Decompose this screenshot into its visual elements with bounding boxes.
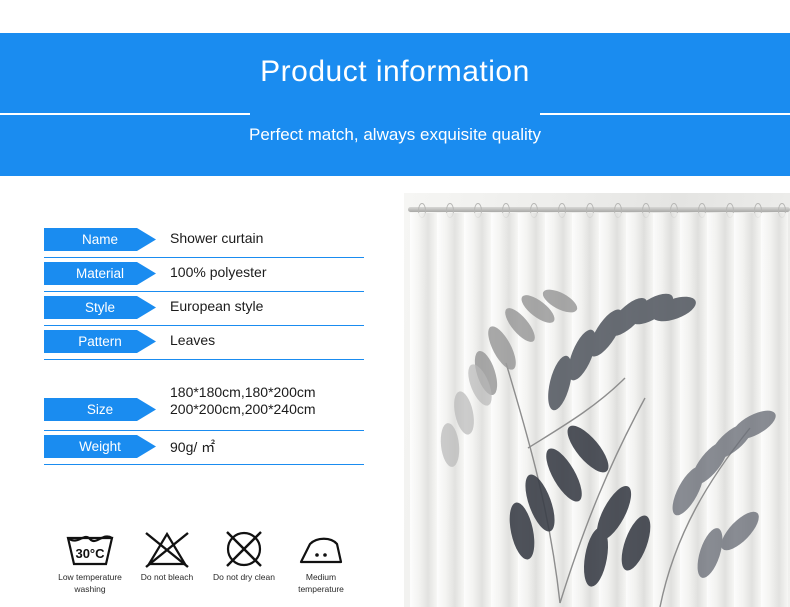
spec-row: Pattern Leaves — [44, 330, 374, 364]
spec-label-material: Material — [44, 262, 156, 285]
care-caption-line1: Medium — [279, 572, 363, 582]
spec-label-name: Name — [44, 228, 156, 251]
spec-divider — [44, 464, 364, 465]
spec-row: Name Shower curtain — [44, 228, 374, 262]
do-not-bleach-icon — [125, 524, 209, 570]
do-not-dry-clean-icon — [202, 524, 286, 570]
curtain-fabric — [410, 213, 788, 607]
spec-value-weight: 90g/ ㎡ — [170, 437, 215, 457]
care-caption-line1: Do not bleach — [125, 572, 209, 582]
care-caption-line1: Low temperature — [48, 572, 132, 582]
spec-row: Material 100% polyester — [44, 262, 374, 296]
page-subtitle: Perfect match, always exquisite quality — [0, 125, 790, 145]
spec-value-size-line1: 180*180cm,180*200cm — [170, 384, 316, 401]
spec-value-material: 100% polyester — [170, 264, 267, 280]
care-caption-line2: temperature — [279, 584, 363, 594]
spec-row: Style European style — [44, 296, 374, 330]
spec-divider — [44, 430, 364, 431]
spec-divider — [44, 257, 364, 258]
iron-medium-icon — [279, 524, 363, 570]
page-title: Product information — [0, 55, 790, 89]
spec-value-size-line2: 200*200cm,200*240cm — [170, 401, 316, 418]
spec-table: Name Shower curtain Material 100% polyes… — [44, 228, 374, 469]
spec-value-name: Shower curtain — [170, 230, 263, 246]
spec-divider — [44, 291, 364, 292]
product-photo — [404, 193, 790, 607]
care-item: Do not bleach — [125, 524, 209, 584]
spec-divider — [44, 325, 364, 326]
care-caption-line1: Do not dry clean — [202, 572, 286, 582]
care-instructions: 30°C Low temperature washing Do not blea… — [48, 524, 378, 607]
spec-label-style: Style — [44, 296, 156, 319]
spec-row: Size 180*180cm,180*200cm 200*200cm,200*2… — [44, 390, 374, 435]
banner-rule-left — [0, 113, 250, 115]
leaf-pattern-icon — [410, 213, 788, 607]
header-banner: Product information Perfect match, alway… — [0, 33, 790, 176]
spec-value-style: European style — [170, 298, 263, 314]
spec-row: Weight 90g/ ㎡ — [44, 435, 374, 469]
banner-rule-right — [540, 113, 790, 115]
care-caption-line2: washing — [48, 584, 132, 594]
spec-value-pattern: Leaves — [170, 332, 215, 348]
care-item: 30°C Low temperature washing — [48, 524, 132, 594]
spec-label-weight: Weight — [44, 435, 156, 458]
care-item: Medium temperature — [279, 524, 363, 594]
spec-divider — [44, 359, 364, 360]
care-item: Do not dry clean — [202, 524, 286, 584]
spec-label-pattern: Pattern — [44, 330, 156, 353]
wash-30c-icon: 30°C — [48, 524, 132, 570]
svg-text:30°C: 30°C — [75, 546, 105, 561]
spec-label-size: Size — [44, 398, 156, 421]
spec-value-size: 180*180cm,180*200cm 200*200cm,200*240cm — [170, 384, 316, 418]
